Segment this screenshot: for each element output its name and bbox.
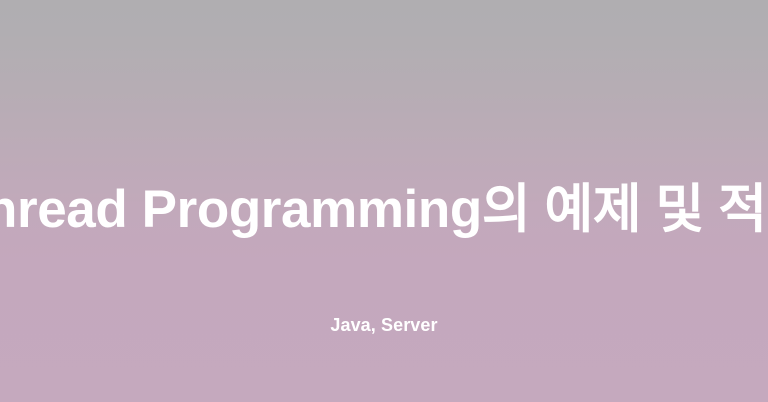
- page-title: Thread Programming의 예제 및 적용: [0, 175, 768, 245]
- slide-subtitle: Java, Server: [0, 313, 768, 339]
- title-slide: Thread Programming의 예제 및 적용 Java, Server: [0, 0, 768, 402]
